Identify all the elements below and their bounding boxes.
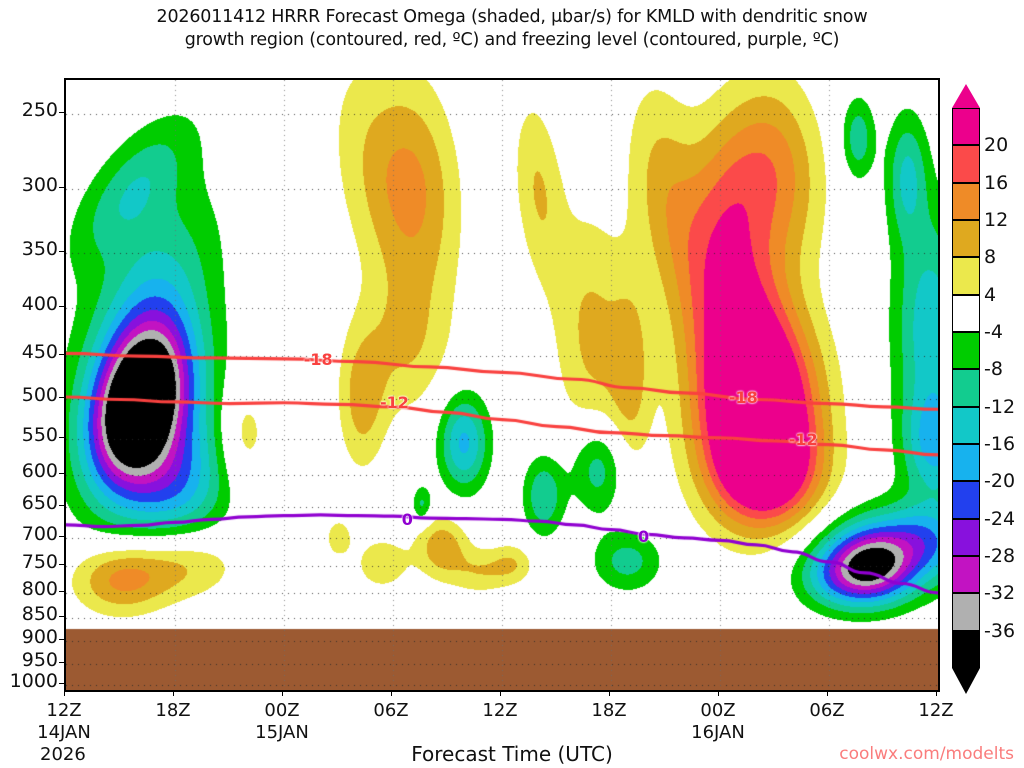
colorbar-tick-label: 16: [984, 172, 1008, 194]
colorbar-tick-label: -16: [984, 433, 1015, 455]
x-axis-tick-mark: [173, 690, 174, 696]
colorbar-tick-label: -8: [984, 358, 1003, 380]
contour-canvas: [66, 80, 938, 690]
x-axis-tick-label: 00Z: [688, 700, 748, 721]
contour-label-freezing-level: 0: [638, 527, 649, 546]
x-axis-tick-label: 18Z: [579, 700, 639, 721]
y-axis-tick-label: 1000: [0, 670, 58, 692]
x-axis-tick-label: 06Z: [797, 700, 857, 721]
contour-label-dendritic-snow-growth: -18: [729, 388, 758, 407]
omega-colorbar: 20161284-4-8-12-16-20-24-28-32-36: [952, 108, 980, 668]
colorbar-cell: [952, 257, 980, 294]
colorbar-extend-min-arrow: [952, 668, 980, 694]
watermark-coolwx: coolwx.com/modelts: [839, 744, 1014, 764]
y-axis-tick-mark: [59, 306, 64, 307]
chart-title-line-2: growth region (contoured, red, ºC) and f…: [0, 29, 1024, 52]
colorbar-cell: [952, 407, 980, 444]
x-axis-tick-mark: [391, 690, 392, 696]
colorbar-cell: [952, 631, 980, 668]
contour-label-freezing-level: 0: [402, 510, 413, 529]
y-axis-tick-mark: [59, 564, 64, 565]
contour-label-dendritic-snow-growth: -12: [789, 430, 818, 449]
colorbar-cell: [952, 369, 980, 406]
x-axis-year-label: 2026: [40, 744, 86, 765]
y-axis-tick-mark: [59, 662, 64, 663]
colorbar-cell: [952, 593, 980, 630]
x-axis-tick-mark: [282, 690, 283, 696]
colorbar-cell: [952, 519, 980, 556]
colorbar-tick-label: -36: [984, 620, 1015, 642]
x-axis-date-label: 15JAN: [242, 722, 322, 743]
y-axis-tick-mark: [59, 397, 64, 398]
x-axis-tick-mark: [64, 690, 65, 696]
y-axis-tick-label: 350: [0, 238, 58, 260]
colorbar-tick-label: -28: [984, 545, 1015, 567]
x-axis-tick-mark: [718, 690, 719, 696]
x-axis-date-label: 16JAN: [678, 722, 758, 743]
y-axis-tick-mark: [59, 187, 64, 188]
x-axis-tick-mark: [500, 690, 501, 696]
colorbar-cell: [952, 481, 980, 518]
x-axis-tick-label: 06Z: [361, 700, 421, 721]
y-axis-tick-mark: [59, 473, 64, 474]
x-axis-tick-mark: [609, 690, 610, 696]
y-axis-tick-label: 450: [0, 341, 58, 363]
y-axis-tick-mark: [59, 591, 64, 592]
y-axis-tick-mark: [59, 437, 64, 438]
y-axis-tick-label: 500: [0, 384, 58, 406]
omega-time-height-plot: -18-12-18-1200: [64, 78, 940, 692]
y-axis-tick-label: 300: [0, 174, 58, 196]
y-axis-tick-mark: [59, 505, 64, 506]
colorbar-tick-label: -12: [984, 396, 1015, 418]
y-axis-tick-mark: [59, 112, 64, 113]
y-axis-tick-label: 850: [0, 603, 58, 625]
y-axis-tick-label: 800: [0, 578, 58, 600]
x-axis-tick-mark: [936, 690, 937, 696]
colorbar-cell: [952, 332, 980, 369]
y-axis-tick-label: 600: [0, 460, 58, 482]
y-axis-tick-label: 700: [0, 523, 58, 545]
chart-title: 2026011412 HRRR Forecast Omega (shaded, …: [0, 6, 1024, 52]
colorbar-tick-label: -32: [984, 582, 1015, 604]
colorbar-cell: [952, 145, 980, 182]
y-axis-tick-mark: [59, 251, 64, 252]
x-axis-tick-label: 00Z: [252, 700, 312, 721]
x-axis-tick-label: 12Z: [470, 700, 530, 721]
y-axis-tick-mark: [59, 354, 64, 355]
x-axis-tick-label: 18Z: [143, 700, 203, 721]
y-axis-tick-label: 550: [0, 424, 58, 446]
y-axis-tick-mark: [59, 616, 64, 617]
colorbar-tick-label: 12: [984, 209, 1008, 231]
colorbar-tick-label: 8: [984, 246, 996, 268]
y-axis-tick-label: 250: [0, 99, 58, 121]
y-axis-tick-mark: [59, 683, 64, 684]
colorbar-cell: [952, 220, 980, 257]
colorbar-tick-label: -20: [984, 470, 1015, 492]
x-axis-tick-label: 12Z: [34, 700, 94, 721]
contour-label-dendritic-snow-growth: -12: [380, 393, 409, 412]
colorbar-cell: [952, 183, 980, 220]
y-axis-tick-label: 950: [0, 649, 58, 671]
colorbar-tick-label: -4: [984, 321, 1003, 343]
x-axis-tick-label: 12Z: [906, 700, 966, 721]
colorbar-cell: [952, 444, 980, 481]
colorbar-cell: [952, 108, 980, 145]
colorbar-tick-label: 4: [984, 284, 996, 306]
x-axis-date-label: 14JAN: [24, 722, 104, 743]
colorbar-cell: [952, 295, 980, 332]
colorbar-tick-label: 20: [984, 134, 1008, 156]
colorbar-cell: [952, 556, 980, 593]
y-axis-tick-label: 900: [0, 626, 58, 648]
chart-title-line-1: 2026011412 HRRR Forecast Omega (shaded, …: [0, 6, 1024, 29]
contour-label-dendritic-snow-growth: -18: [304, 350, 333, 369]
y-axis-tick-label: 400: [0, 293, 58, 315]
colorbar-tick-label: -24: [984, 508, 1015, 530]
y-axis-tick-label: 650: [0, 492, 58, 514]
y-axis-tick-mark: [59, 536, 64, 537]
colorbar-extend-max-arrow: [952, 84, 980, 108]
y-axis-tick-label: 750: [0, 551, 58, 573]
x-axis-tick-mark: [827, 690, 828, 696]
y-axis-tick-mark: [59, 639, 64, 640]
